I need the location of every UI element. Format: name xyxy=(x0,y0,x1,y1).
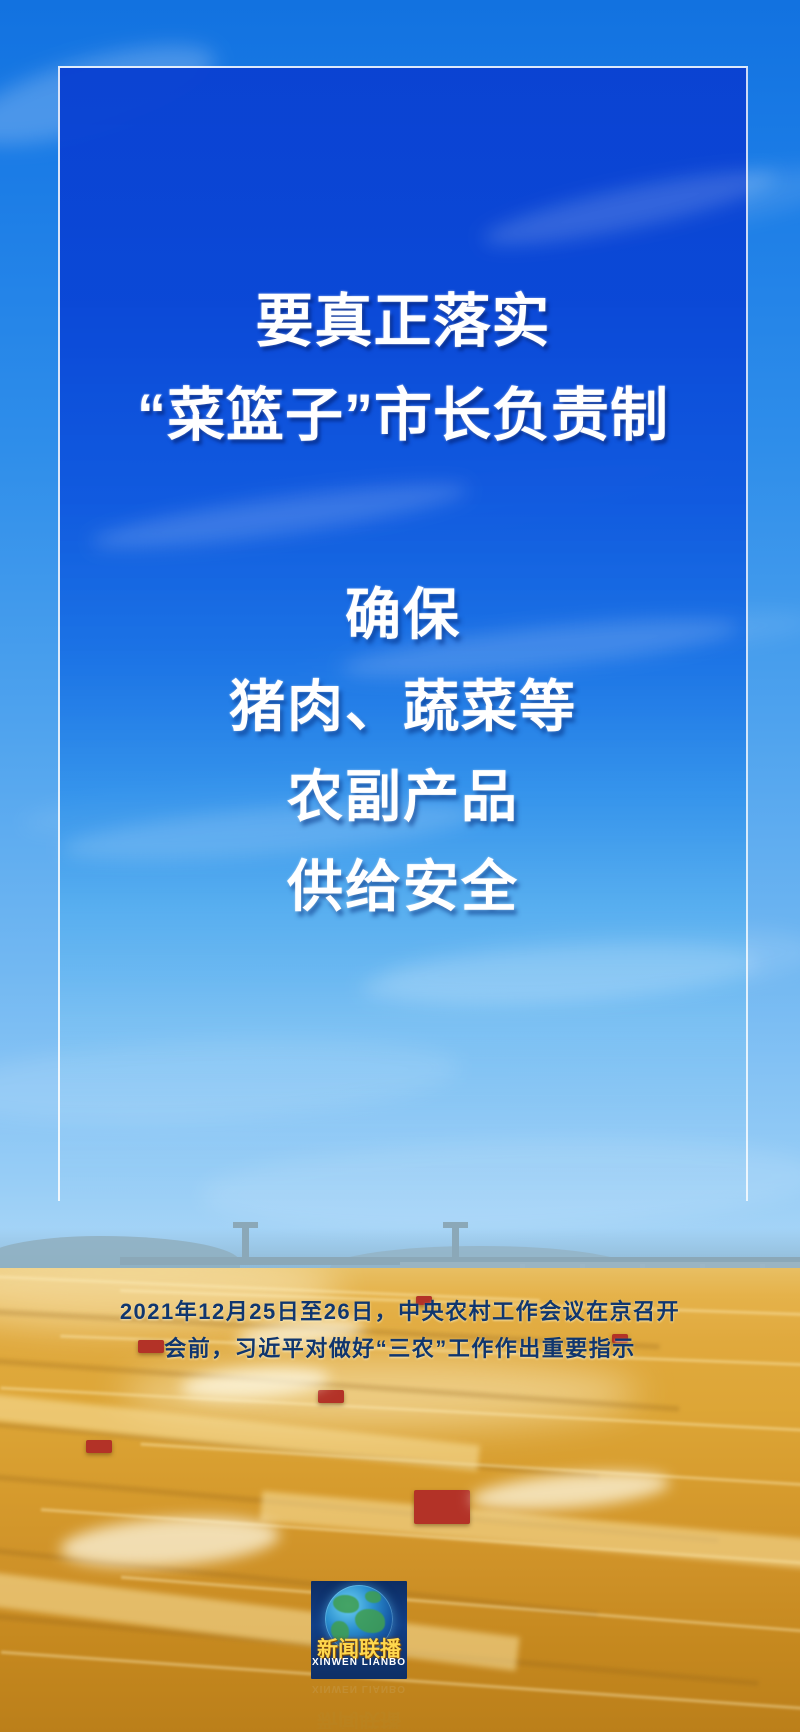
harvester-vehicle xyxy=(318,1390,344,1403)
bridge-pylon xyxy=(242,1222,249,1260)
panel-wisp xyxy=(89,472,470,561)
logo-reflection-cn: 新闻联播 xyxy=(311,1707,407,1729)
body-line-4: 供给安全 xyxy=(58,842,748,923)
panel-wisp xyxy=(359,934,762,1016)
headline-line-1: 要真正落实 xyxy=(58,292,748,353)
caption-line-2: 会前，习近平对做好“三农”工作作出重要指示 xyxy=(0,1331,800,1363)
news-poster: 要真正落实 “菜篮子”市长负责制 确保 猪肉、蔬菜等 农副产品 供给安全 202… xyxy=(0,0,800,1732)
body-line-2: 猪肉、蔬菜等 xyxy=(58,662,748,743)
body-line-1: 确保 xyxy=(58,570,748,651)
xinwen-lianbo-logo: 新闻联播 XINWEN LIANBO xyxy=(311,1581,407,1679)
logo-reflection-en: XINWEN LIANBO xyxy=(311,1683,407,1694)
panel-wisp xyxy=(479,157,781,258)
logo-reflection: 新闻联播 XINWEN LIANBO xyxy=(311,1681,407,1729)
body-line-3: 农副产品 xyxy=(58,752,748,833)
harvester-vehicle xyxy=(86,1440,112,1453)
headline-line-2: “菜篮子”市长负责制 xyxy=(58,386,748,447)
bridge-pylon xyxy=(452,1222,459,1260)
dust-plume xyxy=(59,1510,282,1573)
harvester-vehicle xyxy=(414,1490,470,1524)
caption-line-1: 2021年12月25日至26日，中央农村工作会议在京召开 xyxy=(0,1294,800,1326)
dust-plume xyxy=(469,1465,671,1516)
logo-name-en: XINWEN LIANBO xyxy=(311,1657,407,1668)
